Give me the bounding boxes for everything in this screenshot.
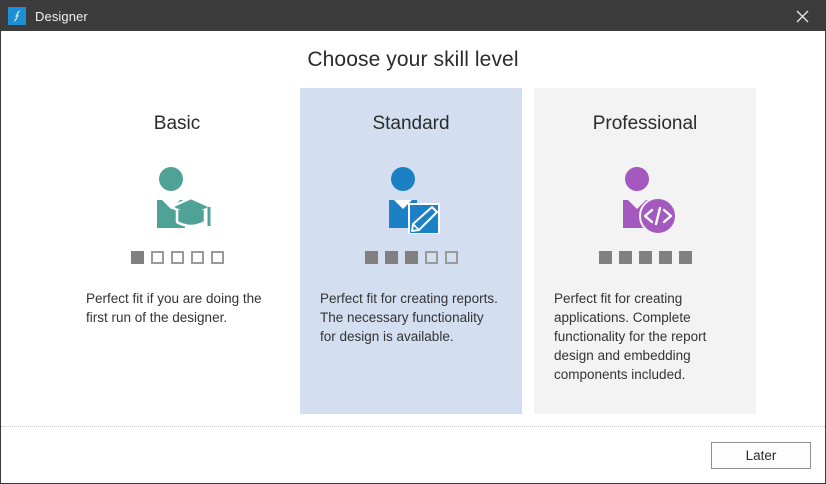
level-square-4	[659, 251, 672, 264]
level-square-1	[131, 251, 144, 264]
skill-card-basic[interactable]: Basic	[66, 88, 288, 414]
level-square-5	[679, 251, 692, 264]
level-square-1	[599, 251, 612, 264]
skill-level-meter	[66, 251, 288, 264]
skill-level-card-list: Basic	[66, 88, 762, 414]
dialog-footer: Later	[1, 426, 825, 483]
title-bar: Designer	[1, 1, 825, 31]
later-button[interactable]: Later	[711, 442, 811, 469]
close-icon[interactable]	[780, 1, 825, 31]
dialog-body: Choose your skill level Basic	[1, 31, 825, 426]
designer-dialog-window: Designer Choose your skill level Basic	[0, 0, 826, 484]
level-square-2	[619, 251, 632, 264]
skill-card-description: Perfect fit for creating applications. C…	[534, 289, 756, 384]
level-square-3	[171, 251, 184, 264]
skill-card-description: Perfect fit for creating reports. The ne…	[300, 289, 522, 346]
person-graduation-cap-icon	[66, 151, 288, 243]
person-code-badge-icon	[534, 151, 756, 243]
level-square-2	[151, 251, 164, 264]
window-title: Designer	[35, 9, 88, 24]
designer-logo-icon	[8, 7, 26, 25]
skill-level-meter	[300, 251, 522, 264]
skill-card-title: Professional	[534, 113, 756, 135]
skill-card-title: Standard	[300, 113, 522, 135]
level-square-1	[365, 251, 378, 264]
level-square-3	[639, 251, 652, 264]
skill-card-standard[interactable]: Standard	[300, 88, 522, 414]
page-title: Choose your skill level	[1, 31, 825, 72]
level-square-3	[405, 251, 418, 264]
level-square-5	[445, 251, 458, 264]
skill-card-professional[interactable]: Professional	[534, 88, 756, 414]
person-pencil-document-icon	[300, 151, 522, 243]
skill-card-description: Perfect fit if you are doing the first r…	[66, 289, 288, 327]
level-square-2	[385, 251, 398, 264]
level-square-5	[211, 251, 224, 264]
skill-level-meter	[534, 251, 756, 264]
level-square-4	[191, 251, 204, 264]
level-square-4	[425, 251, 438, 264]
skill-card-title: Basic	[66, 113, 288, 135]
